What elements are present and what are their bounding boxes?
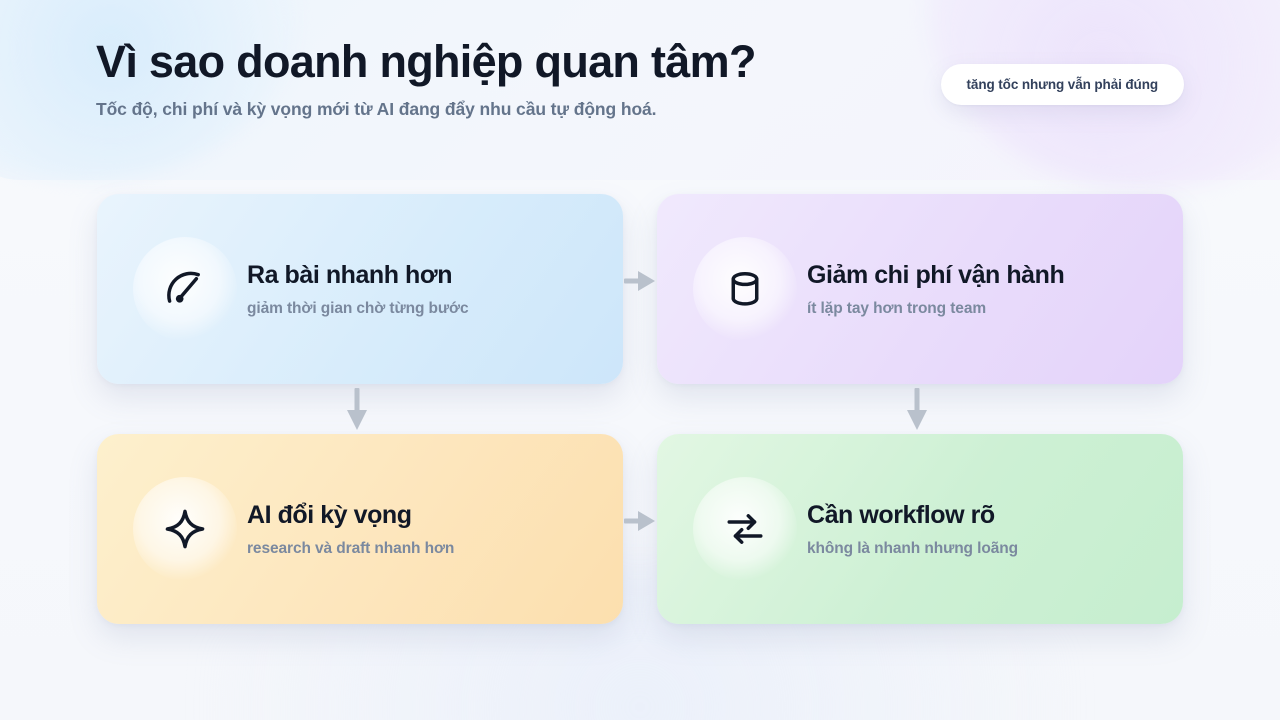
card-title: AI đổi kỳ vọng: [247, 500, 454, 530]
card-subtitle: ít lặp tay hơn trong team: [807, 300, 1064, 318]
page-subtitle: Tốc độ, chi phí và kỳ vọng mới từ AI đan…: [96, 99, 896, 120]
benefit-card-grid: Ra bài nhanh hơn giảm thời gian chờ từng…: [97, 194, 1183, 624]
status-badge: tăng tốc nhưng vẫn phải đúng: [941, 64, 1184, 105]
database-icon: [723, 267, 767, 311]
card-speed-text: Ra bài nhanh hơn giảm thời gian chờ từng…: [247, 260, 469, 318]
card-title: Ra bài nhanh hơn: [247, 260, 469, 290]
header: Vì sao doanh nghiệp quan tâm? Tốc độ, ch…: [96, 38, 896, 120]
card-workflow-text: Cần workflow rõ không là nhanh nhưng loã…: [807, 500, 1018, 558]
card-subtitle: giảm thời gian chờ từng bước: [247, 300, 469, 318]
page-title: Vì sao doanh nghiệp quan tâm?: [96, 38, 896, 87]
card-title: Giảm chi phí vận hành: [807, 260, 1064, 290]
card-workflow-icon-wrap: [699, 483, 791, 575]
card-cost[interactable]: Giảm chi phí vận hành ít lặp tay hơn tro…: [657, 194, 1183, 384]
sparkle-icon: [163, 507, 207, 551]
card-subtitle: research và draft nhanh hơn: [247, 540, 454, 558]
card-expectation[interactable]: AI đổi kỳ vọng research và draft nhanh h…: [97, 434, 623, 624]
card-speed-icon-wrap: [139, 243, 231, 335]
connector-arrow-down-left: [344, 388, 370, 434]
connector-arrow-down-right: [904, 388, 930, 434]
card-subtitle: không là nhanh nhưng loãng: [807, 540, 1018, 558]
card-title: Cần workflow rõ: [807, 500, 1018, 530]
connector-arrow-right-bottom: [624, 508, 658, 534]
card-cost-text: Giảm chi phí vận hành ít lặp tay hơn tro…: [807, 260, 1064, 318]
gauge-icon: [163, 267, 207, 311]
swap-arrows-icon: [723, 507, 767, 551]
slide-canvas: Vì sao doanh nghiệp quan tâm? Tốc độ, ch…: [0, 0, 1280, 720]
card-expectation-icon-wrap: [139, 483, 231, 575]
card-expectation-text: AI đổi kỳ vọng research và draft nhanh h…: [247, 500, 454, 558]
connector-arrow-right-top: [624, 268, 658, 294]
card-cost-icon-wrap: [699, 243, 791, 335]
card-workflow[interactable]: Cần workflow rõ không là nhanh nhưng loã…: [657, 434, 1183, 624]
card-speed[interactable]: Ra bài nhanh hơn giảm thời gian chờ từng…: [97, 194, 623, 384]
